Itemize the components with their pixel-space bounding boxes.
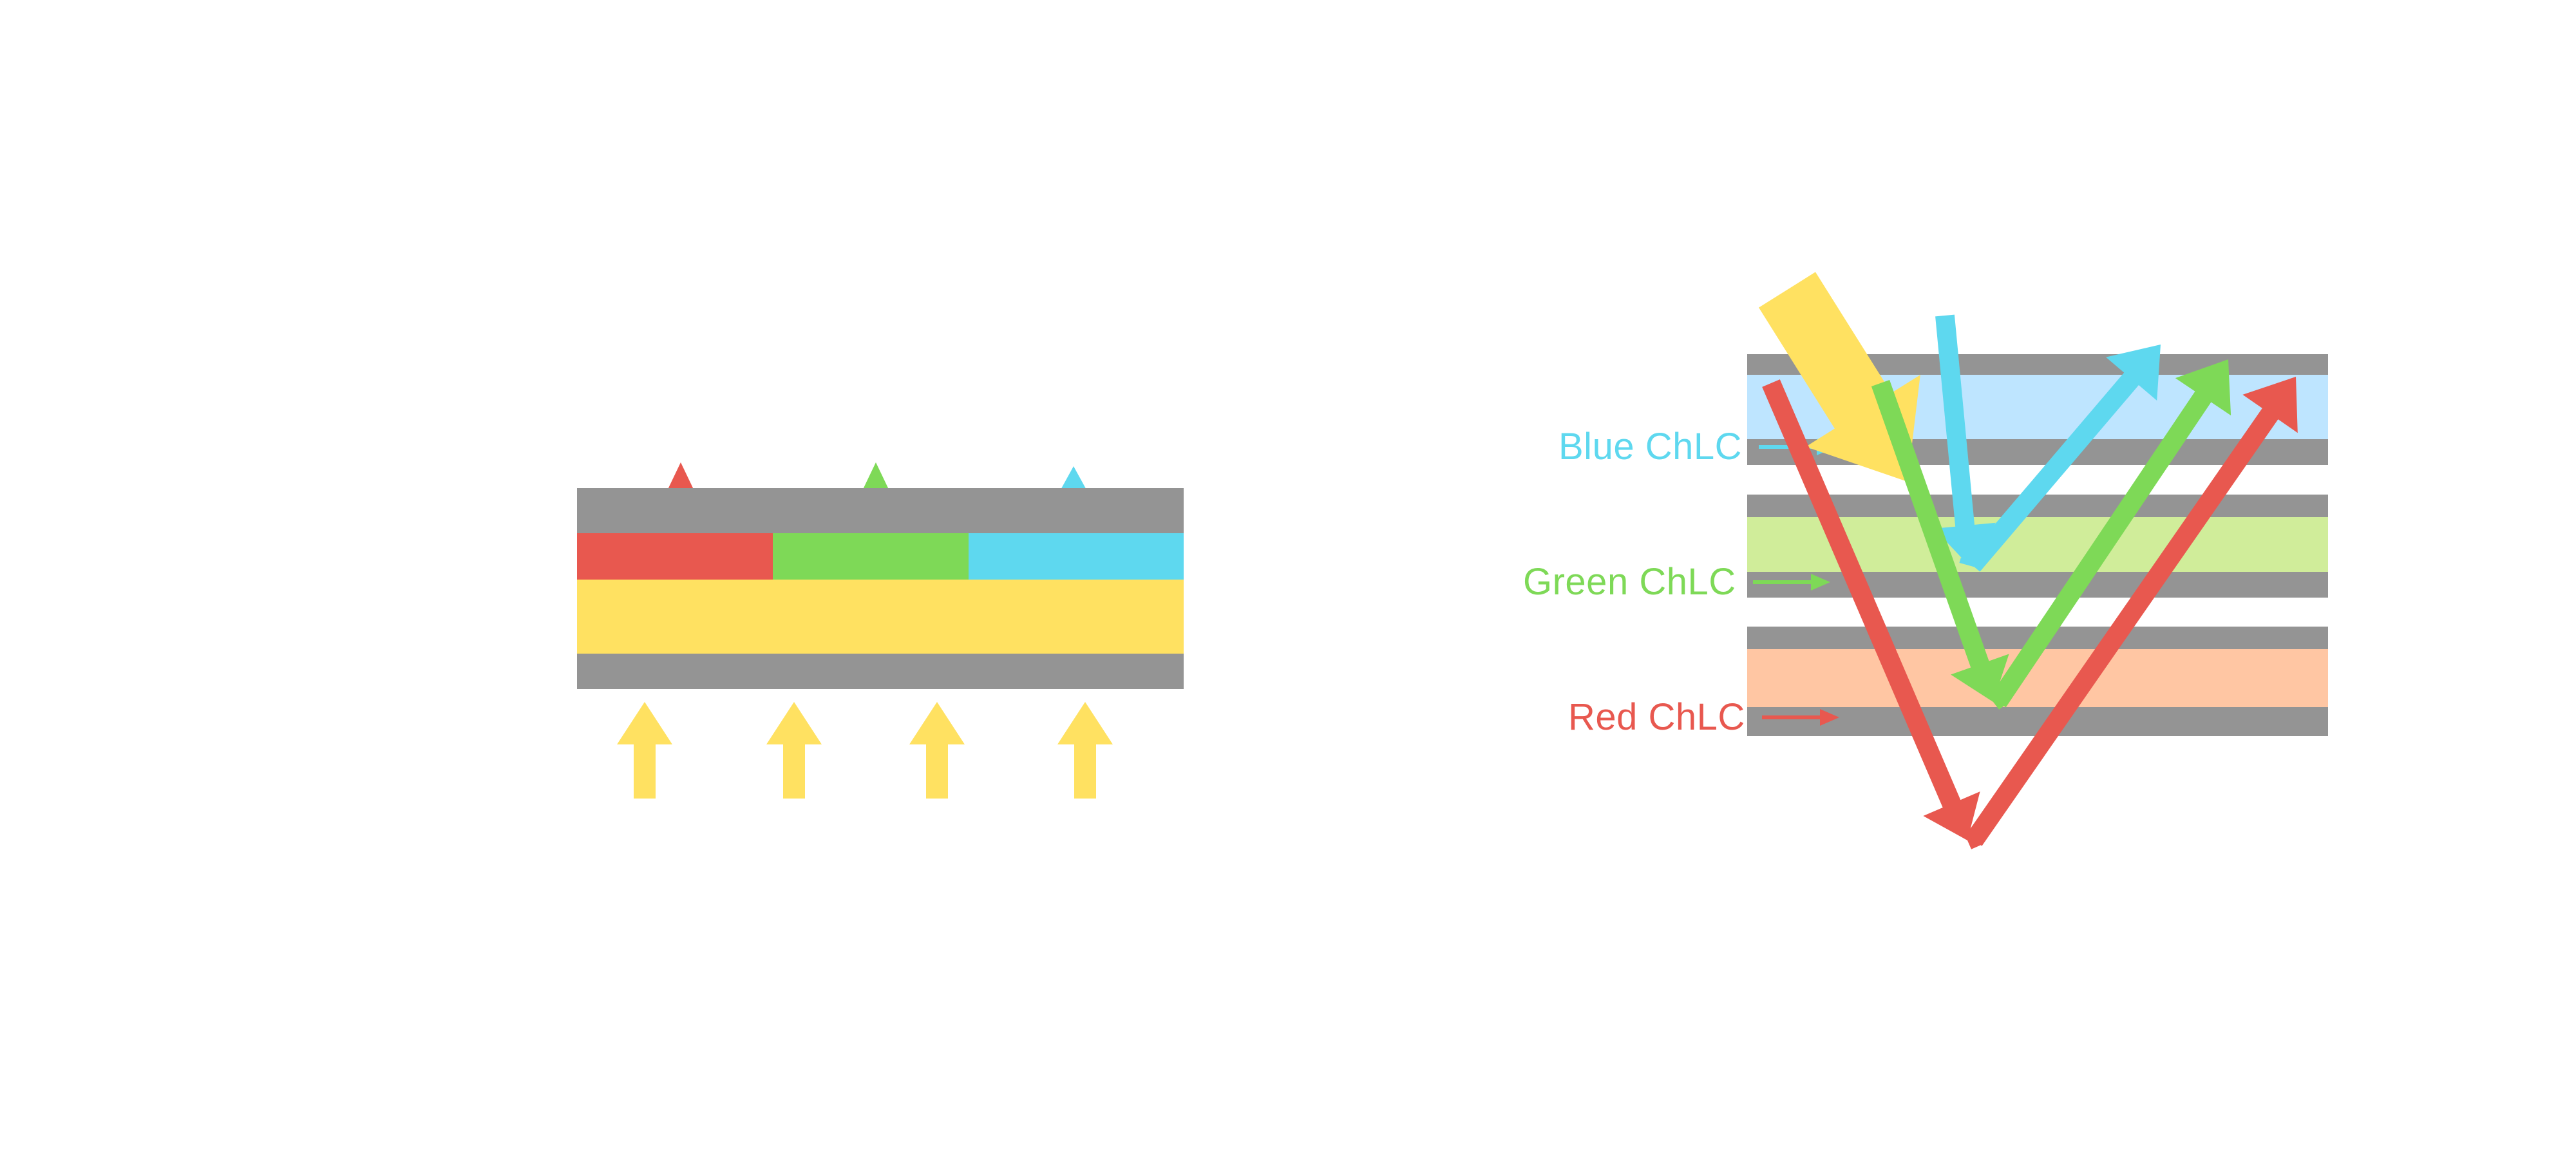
outgoing-ray-arrow	[1966, 377, 2298, 846]
pump-arrow-3	[909, 702, 965, 799]
arrow-head-icon	[617, 702, 672, 744]
emissive-layer-stack	[577, 488, 1184, 689]
arrow-shaft	[634, 743, 656, 799]
pump-arrow-4	[1057, 702, 1113, 799]
light-ray-overlay	[1385, 258, 2415, 902]
arrow-shaft	[783, 743, 805, 799]
backlight-layer	[577, 580, 1184, 654]
pump-arrow-1	[617, 702, 672, 799]
green-subpixel	[773, 533, 968, 580]
arrow-head-icon	[766, 702, 822, 744]
arrow-head-icon	[909, 702, 965, 744]
top-electrode	[577, 488, 1184, 533]
blue-ray-path	[1934, 315, 2161, 572]
red-subpixel	[577, 533, 773, 580]
arrow-shaft	[926, 743, 948, 799]
pump-arrow-2	[766, 702, 822, 799]
arrow-head-icon	[1057, 702, 1113, 744]
bottom-electrode	[577, 654, 1184, 689]
blue-subpixel	[969, 533, 1184, 580]
outgoing-ray-arrow	[1965, 345, 2161, 572]
reflective-chlc-stack-panel: Blue ChLCGreen ChLCRed ChLC	[1385, 258, 2415, 902]
incoming-ray-arrow	[1934, 315, 1996, 565]
arrow-shaft	[1074, 743, 1096, 799]
color-conversion-layer	[577, 533, 1184, 580]
diagram-canvas: Blue ChLCGreen ChLCRed ChLC	[0, 0, 2576, 1154]
emissive-stack-panel	[567, 322, 1211, 831]
